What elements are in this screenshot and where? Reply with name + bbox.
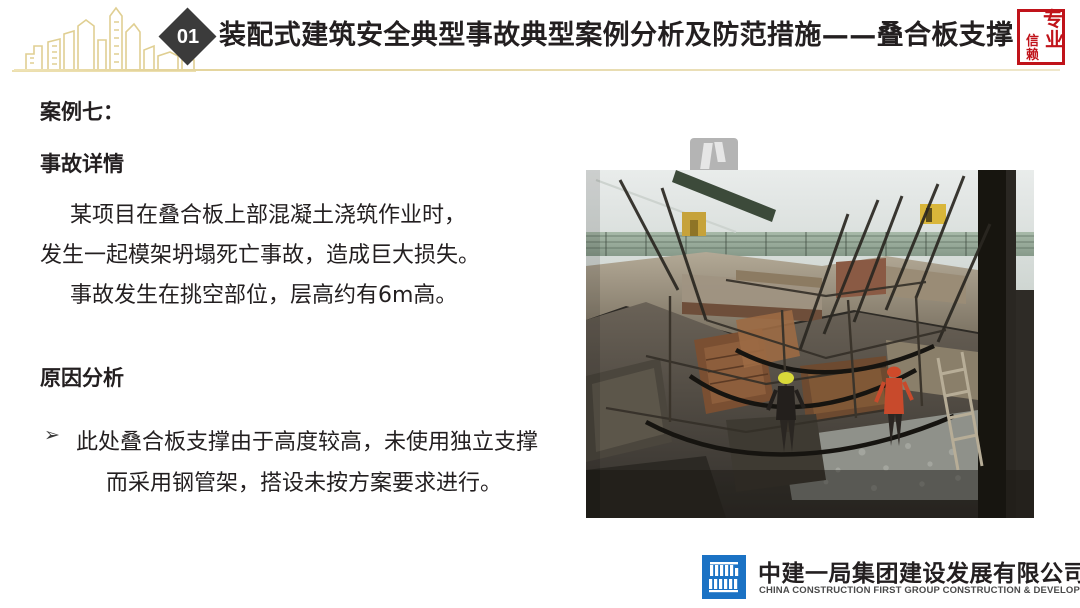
company-name-cn: 中建一局集团建设发展有限公司 — [758, 554, 1080, 588]
badge-number-label: 01 — [159, 8, 217, 66]
accident-line-1: 某项目在叠合板上部混凝土浇筑作业时， — [40, 196, 550, 236]
cause-analysis-bullet: ➢ 此处叠合板支撑由于高度较高，未使用独立支撑 而采用钢管架，搭设未按方案要求进… — [40, 422, 570, 504]
page-title: 装配式建筑安全典型事故典型案例分析及防范措施——叠合板支撑 — [219, 14, 1009, 62]
brand-seal-logo: 专 业 信 赖 — [1013, 7, 1069, 69]
accident-line-3: 事故发生在挑空部位，层高约有6m高。 — [40, 276, 550, 316]
seal-char-4: 赖 — [1026, 50, 1039, 61]
section-heading-accident-details: 事故详情 — [40, 148, 124, 178]
case-label: 案例七： — [40, 96, 124, 126]
seal-char-3: 信 — [1026, 36, 1039, 47]
seal-char-2: 业 — [1045, 35, 1064, 46]
seal-char-1: 专 — [1043, 14, 1063, 25]
header-divider-rule — [14, 69, 1060, 71]
company-name-en: CHINA CONSTRUCTION FIRST GROUP CONSTRUCT… — [759, 585, 1080, 596]
cause-line-2: 而采用钢管架，搭设未按方案要求进行。 — [76, 463, 570, 504]
section-number-badge: 01 — [159, 8, 217, 66]
accident-details-paragraph: 某项目在叠合板上部混凝土浇筑作业时， 发生一起模架坍塌死亡事故，造成巨大损失。 … — [40, 196, 550, 316]
section-heading-cause-analysis: 原因分析 — [40, 362, 124, 392]
cause-line-1: 此处叠合板支撑由于高度较高，未使用独立支撑 — [76, 422, 570, 463]
slide-root: 01 装配式建筑安全典型事故典型案例分析及防范措施——叠合板支撑 专 业 信 赖… — [0, 0, 1080, 608]
arrow-bullet-icon: ➢ — [44, 424, 60, 446]
slide-footer: 中建一局集团建设发展有限公司 CHINA CONSTRUCTION FIRST … — [700, 552, 1072, 604]
cscec-logo-icon — [702, 555, 746, 599]
seal-calligraphy: 专 业 信 赖 — [1013, 7, 1069, 67]
accident-site-photo — [586, 170, 1034, 518]
accident-line-2: 发生一起模架坍塌死亡事故，造成巨大损失。 — [40, 236, 550, 276]
cause-analysis-text: 此处叠合板支撑由于高度较高，未使用独立支撑 而采用钢管架，搭设未按方案要求进行。 — [76, 422, 570, 504]
slide-header: 01 装配式建筑安全典型事故典型案例分析及防范措施——叠合板支撑 专 业 信 赖 — [0, 0, 1080, 78]
